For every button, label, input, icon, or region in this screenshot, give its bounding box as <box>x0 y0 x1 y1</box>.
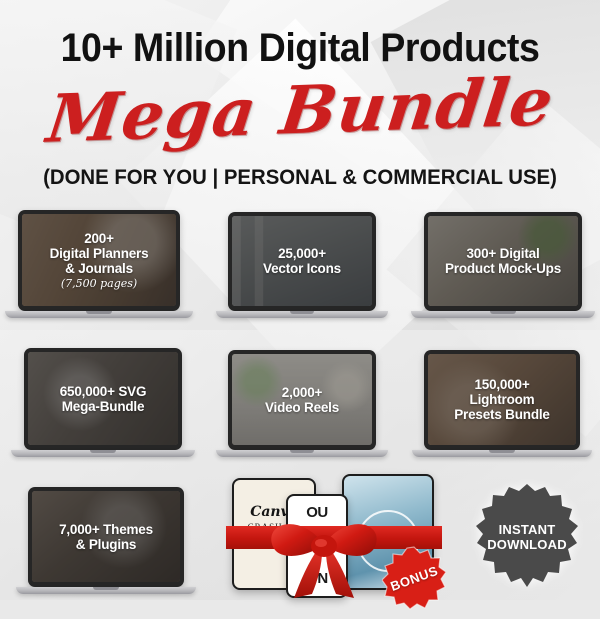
laptop-lid: 150,000+ Lightroom Presets Bundle <box>424 350 580 450</box>
product-card-2[interactable]: 25,000+ Vector Icons <box>228 212 376 318</box>
laptop-base <box>216 311 388 318</box>
product-caption: 150,000+ Lightroom Presets Bundle <box>428 354 576 445</box>
laptop-screen: 25,000+ Vector Icons <box>232 216 372 306</box>
product-card-5[interactable]: 2,000+ Video Reels <box>228 350 376 457</box>
laptop-screen: 650,000+ SVG Mega-Bundle <box>28 352 178 445</box>
bonus-badge-label-wrap: BONUS <box>382 546 446 610</box>
script-title: Mega Bundle <box>43 65 557 155</box>
bonus-cluster[interactable]: Canva CRASH CO OU E ON IGITAL <box>232 470 448 600</box>
caption-line-3: & Journals <box>65 261 133 276</box>
product-card-4[interactable]: 650,000+ SVG Mega-Bundle <box>24 348 182 457</box>
laptop-base <box>5 311 193 318</box>
bonus-badge-label: BONUS <box>373 537 455 619</box>
product-card-7[interactable]: 7,000+ Themes & Plugins <box>28 487 184 594</box>
instant-download-seal[interactable]: INSTANT DOWNLOAD <box>472 482 582 592</box>
laptop-lid: 200+ Digital Planners & Journals (7,500 … <box>18 210 180 311</box>
caption-line-1: 25,000+ <box>278 246 326 261</box>
laptop-lid: 650,000+ SVG Mega-Bundle <box>24 348 182 450</box>
script-title-wrap: Mega Bundle <box>0 74 600 146</box>
product-caption: 650,000+ SVG Mega-Bundle <box>28 352 178 445</box>
caption-line-1: 150,000+ <box>474 377 529 392</box>
laptop-lid: 2,000+ Video Reels <box>228 350 376 450</box>
laptop-screen: 200+ Digital Planners & Journals (7,500 … <box>22 214 176 306</box>
caption-line-3: Presets Bundle <box>454 407 549 422</box>
caption-line-2: Vector Icons <box>263 261 341 276</box>
laptop-lid: 300+ Digital Product Mock-Ups <box>424 212 582 311</box>
laptop-screen: 7,000+ Themes & Plugins <box>32 491 180 582</box>
caption-line-2: Digital Planners <box>50 246 149 261</box>
caption-line-2: Mega-Bundle <box>62 399 145 414</box>
laptop-screen: 150,000+ Lightroom Presets Bundle <box>428 354 576 445</box>
caption-line-1: 2,000+ <box>282 385 322 400</box>
caption-line-2: Product Mock-Ups <box>445 261 561 276</box>
laptop-base <box>11 450 194 457</box>
laptop-base <box>16 587 197 594</box>
product-caption: 300+ Digital Product Mock-Ups <box>428 216 578 306</box>
laptop-base <box>216 450 388 457</box>
caption-line-1: 300+ Digital <box>466 246 539 261</box>
product-caption: 2,000+ Video Reels <box>232 354 372 445</box>
caption-line-2: Video Reels <box>265 400 339 415</box>
product-card-3[interactable]: 300+ Digital Product Mock-Ups <box>424 212 582 318</box>
caption-line-1: 200+ <box>84 231 114 246</box>
caption-line-2: & Plugins <box>76 537 136 552</box>
caption-line-1: 7,000+ Themes <box>59 522 153 537</box>
product-card-6[interactable]: 150,000+ Lightroom Presets Bundle <box>424 350 580 457</box>
seal-text: INSTANT DOWNLOAD <box>472 482 582 592</box>
product-caption: 25,000+ Vector Icons <box>232 216 372 306</box>
caption-subtext: (7,500 pages) <box>61 277 137 290</box>
header: 10+ Million Digital Products Mega Bundle… <box>0 0 600 205</box>
gift-bow-icon <box>264 508 384 600</box>
seal-line-2: DOWNLOAD <box>487 537 567 552</box>
caption-line-2: Lightroom <box>470 392 535 407</box>
laptop-lid: 25,000+ Vector Icons <box>228 212 376 311</box>
laptop-screen: 2,000+ Video Reels <box>232 354 372 445</box>
laptop-lid: 7,000+ Themes & Plugins <box>28 487 184 587</box>
product-caption: 7,000+ Themes & Plugins <box>32 491 180 582</box>
caption-line-1: 650,000+ SVG <box>60 384 147 399</box>
product-caption: 200+ Digital Planners & Journals (7,500 … <box>22 214 176 306</box>
subline: (DONE FOR YOU | PERSONAL & COMMERCIAL US… <box>9 166 591 190</box>
product-card-1[interactable]: 200+ Digital Planners & Journals (7,500 … <box>18 210 180 318</box>
laptop-base <box>411 311 594 318</box>
seal-line-1: INSTANT <box>499 522 556 537</box>
laptop-base <box>412 450 593 457</box>
laptop-screen: 300+ Digital Product Mock-Ups <box>428 216 578 306</box>
